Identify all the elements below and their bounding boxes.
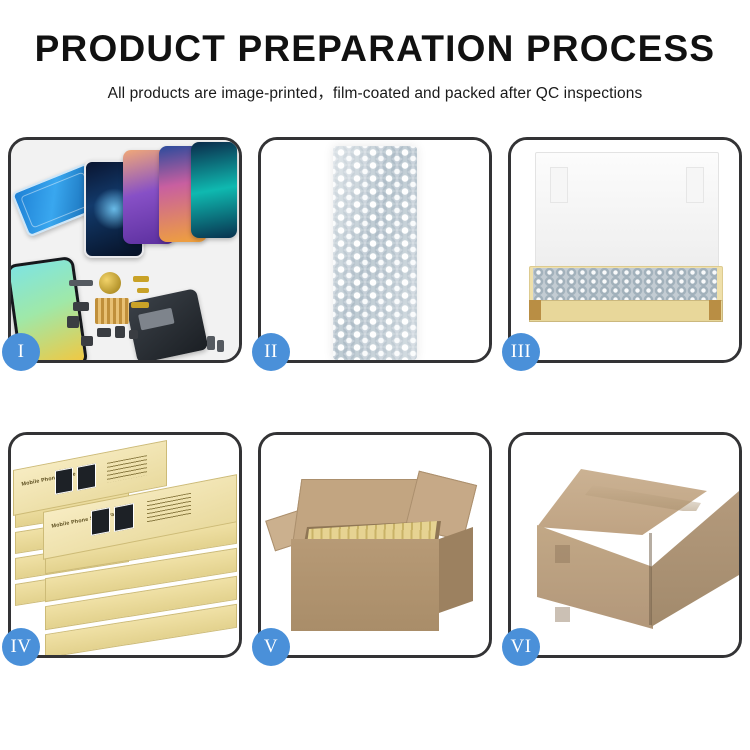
step-badge-6: VI [502,628,540,666]
step-image-sealed-carton [511,435,739,655]
carton-handle-tab-top [555,545,570,563]
kraft-box-corner-left [529,300,541,320]
page-subtitle: All products are image-printed，film-coat… [0,81,750,103]
step-card-6: VI [508,432,742,658]
carton-handle-tab-bottom [555,607,570,622]
box-stack: Mobile Phone Spare Parts Mobile Phone Sp… [11,435,239,655]
step-card-1: I [8,137,242,363]
step-image-stacked-retail-boxes: Mobile Phone Spare Parts Mobile Phone Sp… [11,435,239,655]
step-card-3: III [508,137,742,363]
step-image-bubble-wrapped-item [261,140,489,360]
bubble-wrap-sheet [333,146,417,360]
product-preparation-infographic: PRODUCT PREPARATION PROCESS All products… [0,0,750,750]
box-screen-image-front-2 [114,503,134,532]
step-image-products-and-parts [11,140,239,360]
small-part-4 [73,302,89,311]
steps-grid: I II [8,137,742,658]
step-card-4: Mobile Phone Spare Parts Mobile Phone Sp… [8,432,242,658]
small-part-8 [115,326,125,338]
small-part-9 [81,336,93,346]
page-title: PRODUCT PREPARATION PROCESS [0,30,750,67]
step-image-inner-box-packing [511,140,739,360]
step-card-2: II [258,137,492,363]
chip-array-part [95,298,129,324]
step-badge-5: V [252,628,290,666]
small-part-2 [133,276,149,282]
step-badge-1: I [2,333,40,371]
phone-rear-housing [125,288,208,360]
step-image-carton-loading [261,435,489,655]
small-part-11 [207,336,215,350]
small-part-6 [131,302,149,308]
small-part-10 [129,330,138,339]
step-badge-3: III [502,333,540,371]
lid-tab-left [550,167,568,203]
carton-side-panel [439,527,473,613]
box-lid-flap [535,152,719,278]
carton-vertical-edge [649,533,652,625]
small-part-3 [137,288,149,293]
small-part-7 [97,328,111,337]
lid-tab-right [686,167,704,203]
small-part-5 [67,316,79,328]
kraft-box-front-panel [529,300,723,322]
speaker-part-icon [99,272,121,294]
box-screen-image-front-1 [91,507,110,536]
box-screen-image-rear-1 [55,467,73,494]
small-part-12 [217,340,224,352]
step-card-5: V [258,432,492,658]
plastic-sheen [333,146,417,360]
step-badge-4: IV [2,628,40,666]
small-part-1 [69,280,93,286]
box-screen-image-rear-2 [77,463,96,491]
header: PRODUCT PREPARATION PROCESS All products… [0,0,750,103]
carton-front-panel [291,539,439,631]
phone-teal-screen [191,142,237,238]
bubble-wrapped-contents [533,268,717,300]
step-badge-2: II [252,333,290,371]
kraft-box-corner-right [709,300,721,320]
